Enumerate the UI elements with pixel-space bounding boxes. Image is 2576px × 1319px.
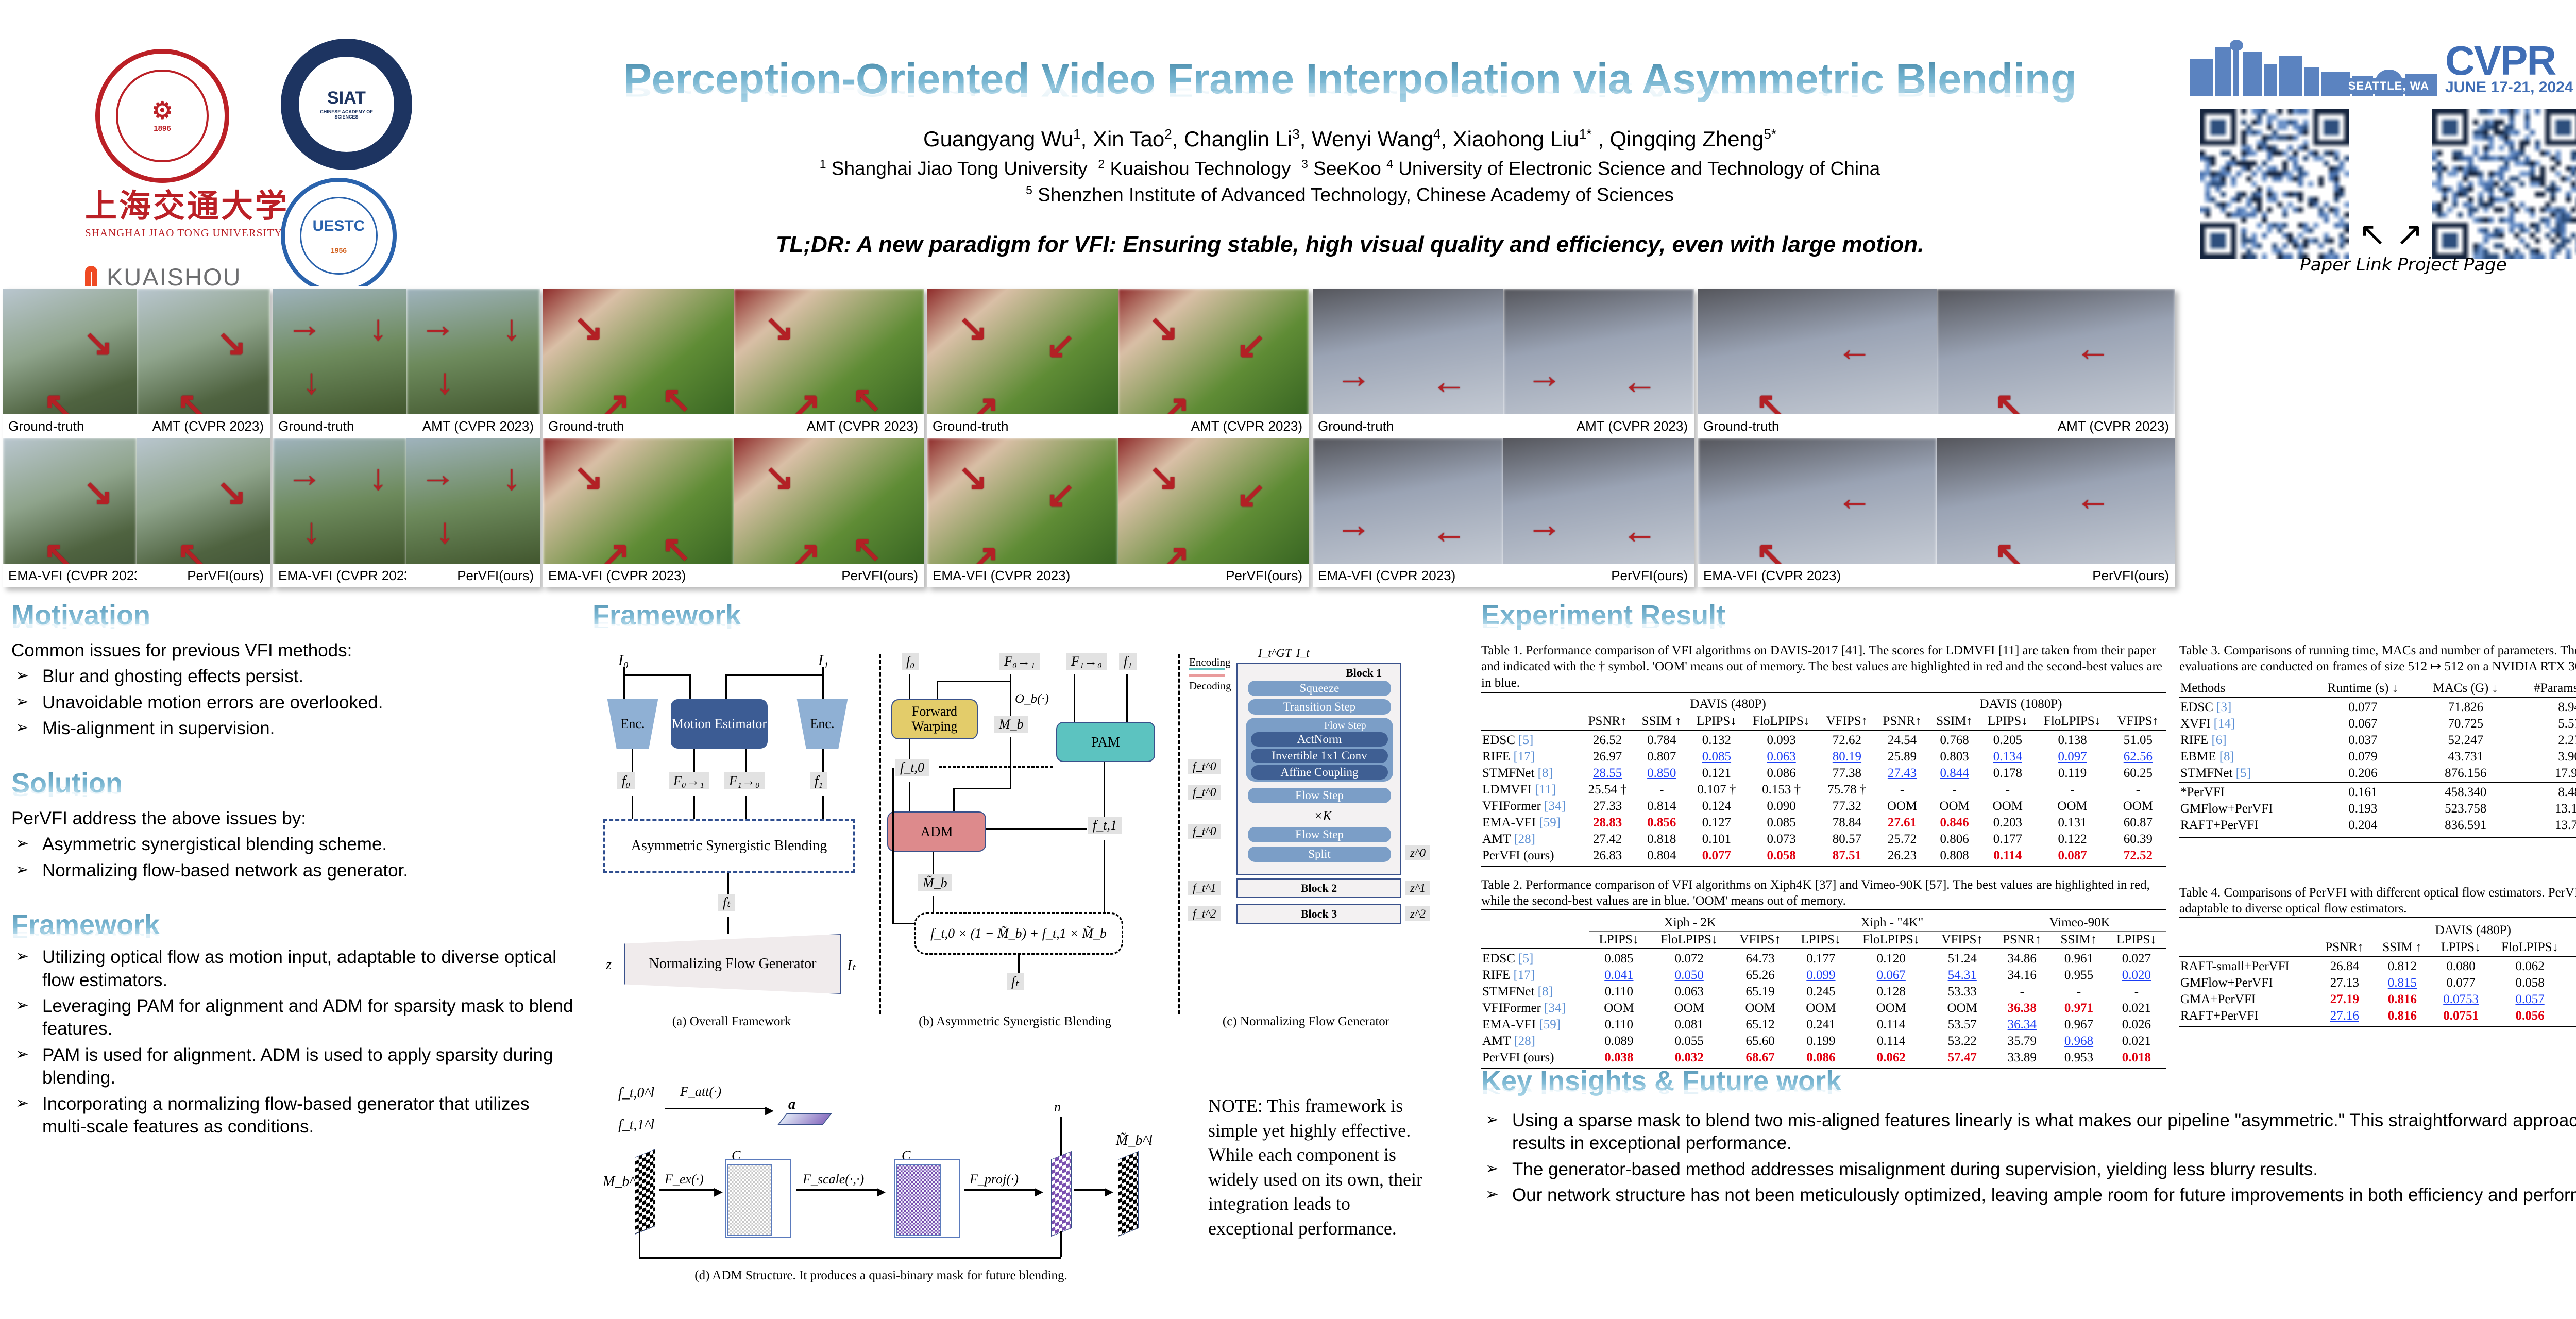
arrow-left-icon: ↖ [2359,217,2386,250]
fig-c-layer-actnorm: ActNorm [1251,732,1388,747]
comparison-cell-ema-vfi: →↓↓EMA-VFI (CVPR 2023) [273,438,406,587]
fig-c-layer-transition: Transition Step [1248,699,1391,715]
fig-a-feature-F10: F₁→₀ [724,773,765,789]
fig-b-input-f0: f₀ [902,654,919,669]
table-row: XVFI [14]0.06770.7255.577 [2179,716,2576,732]
fig-c-repeat-K: ×K [1314,808,1332,824]
comparison-cell-ema-vfi: →←EMA-VFI (CVPR 2023) [1313,438,1503,587]
uestc-logo: UESTC 1956 [281,178,397,294]
solution-heading: Solution [11,767,578,799]
cell-caption: EMA-VFI (CVPR 2023) [927,564,1118,587]
cell-caption: PerVFI(ours) [1118,564,1309,587]
fig-c-caption: (c) Normalizing Flow Generator [1185,1014,1427,1029]
list-item: ➢Blur and ghosting effects persist. [11,665,578,688]
red-annotation-arrow-icon: ↘ [958,459,988,495]
fig-a-mid-feature: fₜ [718,895,735,910]
red-annotation-arrow-icon: ↓ [502,310,520,346]
kuaishou-name: KUAISHOU [107,265,245,290]
red-annotation-arrow-icon: ← [1837,480,1873,516]
qr-code-paper-link[interactable] [2200,109,2349,259]
red-annotation-arrow-icon: ↘ [83,325,113,361]
table-row: PerVFI (ours)0.0380.03268.670.0860.06257… [1481,1050,2166,1066]
framework-note: NOTE: This framework is simple yet highl… [1208,1094,1425,1241]
fig-c-legend-encoding: Encoding [1189,656,1230,669]
comparison-cell-ema-vfi: ←↖EMA-VFI (CVPR 2023) [1698,438,1937,587]
list-item: ➢Utilizing optical flow as motion input,… [11,946,578,992]
cell-caption: PerVFI(ours) [406,564,540,587]
fig-c-latent-z2: z^2 [1405,907,1430,921]
siat-subtitle: CHINESE ACADEMY OF SCIENCES [311,109,382,120]
uestc-year: 1956 [331,246,347,255]
fig-b-caption: (b) Asymmetric Synergistic Blending [886,1014,1144,1029]
fig-b-output-ft: fₜ [1007,974,1024,990]
arrow-bullet-icon: ➢ [1485,1158,1499,1178]
arrow-bullet-icon: ➢ [15,717,29,737]
page-title-reflection: Perception-Oriented Video Frame Interpol… [613,79,2087,101]
red-annotation-arrow-icon: ↙ [1236,477,1266,513]
key-insights-list: ➢Using a sparse mask to blend two mis-al… [1481,1109,2576,1207]
list-item: ➢Unavoidable motion errors are overlooke… [11,691,578,714]
fig-b-ft0: f_t,0 [895,760,929,775]
table4: DAVIS (480P)PSNR↑SSIM ↑LPIPS↓FloLPIPS↓VF… [2179,917,2576,1028]
comparison-cell-amt: →←AMT (CVPR 2023) [1503,289,1694,438]
fig-c-legend-encoding-arrow-icon [1189,668,1225,670]
fig-d-mask-input-grid [635,1149,655,1235]
qr-code-project-page[interactable] [2432,109,2576,259]
fig-a-motion-estimator: Motion Estimator [671,699,768,749]
tables-area: Table 1. Performance comparison of VFI a… [1481,642,2576,1060]
fig-a-encoder-left: Enc. [604,699,662,749]
comparison-cell-pervfi: ↘↖PerVFI(ours) [137,438,270,587]
cell-caption: EMA-VFI (CVPR 2023) [1313,564,1503,587]
comparison-cell-amt: ↘↗↖AMT (CVPR 2023) [734,289,924,438]
cell-caption: EMA-VFI (CVPR 2023) [3,564,137,587]
cell-caption: AMT (CVPR 2023) [137,414,270,438]
table-row: *PerVFI0.161458.3408.481 [2179,784,2576,801]
red-annotation-arrow-icon: ↓ [369,310,387,346]
red-annotation-arrow-icon: ← [1431,363,1467,399]
fig-b-input-F01: F₀→₁ [999,654,1040,669]
cvpr-location-badge: SEATTLE, WA [2344,78,2434,94]
red-annotation-arrow-icon: ↘ [216,474,247,510]
fig-c-latent-z0: z^0 [1405,847,1430,860]
cvpr-logo: SEATTLE, WA CVPR JUNE 17-21, 2024 [2190,32,2576,96]
fig-d-op-scale: F_scale(·,·) [803,1172,864,1187]
solution-lead: PerVFI address the above issues by: [11,807,578,830]
cell-caption: AMT (CVPR 2023) [406,414,540,438]
cvpr-date: JUNE 17-21, 2024 [2445,79,2573,96]
table4-caption: Table 4. Comparisons of PerVFI with diff… [2179,885,2576,917]
table3: MethodsRuntime (s) ↓MACs (G) ↓#Params (M… [2179,675,2576,838]
experiment-result-heading: Experiment Result [1481,599,2576,631]
cell-caption: EMA-VFI (CVPR 2023) [273,564,406,587]
red-annotation-arrow-icon: → [420,456,456,492]
red-annotation-arrow-icon: ↘ [764,459,794,495]
fig-d-arrow-out-icon: ▶ [1105,1185,1113,1198]
red-annotation-arrow-icon: ↘ [83,474,113,510]
tldr-statement: TL;DR: A new paradigm for VFI: Ensuring … [613,232,2087,258]
comparison-cell-pervfi: ↘↙↗PerVFI(ours) [1118,438,1309,587]
table1-wrap: Table 1. Performance comparison of VFI a… [1481,642,2166,868]
table-row: PerVFI (ours)26.830.8040.0770.05887.5126… [1481,848,2166,864]
fig-b-dashed-to-pam [939,766,1053,768]
arrow-bullet-icon: ➢ [15,665,29,685]
fig-d-input-ft1: f_t,1^l [618,1117,654,1134]
fig-a-blending-block: Asymmetric Synergistic Blending [603,819,855,873]
table-row: RAFT-small+PerVFI26.840.8120.0800.06281.… [2179,958,2576,975]
red-annotation-arrow-icon: → [420,307,456,343]
fig-d-feature-cube-2-face [896,1164,941,1236]
fig-b-Mb-tilde: M̃_b [918,875,952,891]
fig-b-blend-formula: f_t,0 × (1 − M̃_b) + f_t,1 × M̃_b [914,912,1123,955]
red-annotation-arrow-icon: → [1526,506,1562,543]
red-annotation-arrow-icon: ↘ [573,459,604,495]
fig-d-output-mask-grid [1118,1151,1139,1237]
table-row: GMA+PerVFI27.190.8160.07530.05783.34 [2179,991,2576,1008]
fig-a-generator-output-It: Iₜ [847,957,856,974]
arrow-right-icon: ↗ [2396,217,2424,250]
poster-header: ⚙ 1896 SIAT CHINESE ACADEMY OF SCIENCES … [0,0,2576,286]
fig-d-output-label: M̃_b^l [1116,1132,1153,1149]
uestc-acronym: UESTC [313,217,365,235]
fig-c-layer-flowstep-3: Flow Step [1248,827,1391,842]
siat-logo: SIAT CHINESE ACADEMY OF SCIENCES [281,39,412,170]
fig-c-latent-z1: z^1 [1405,882,1430,895]
red-annotation-arrow-icon: ↖ [852,381,882,417]
fig-a-normalizing-flow-generator: Normalizing Flow Generator [624,934,841,994]
comparison-cell-ema-vfi: ↘↗↖EMA-VFI (CVPR 2023) [543,438,734,587]
fig-a-caption: (a) Overall Framework [603,1014,860,1029]
table-row: EBME [8]0.07943.7313.908 [2179,749,2576,765]
seattle-skyline-icon: SEATTLE, WA [2190,36,2437,96]
fig-a-feature-F01: F₀→₁ [669,773,709,789]
table1: DAVIS (480P)DAVIS (1080P)PSNR↑SSIM ↑LPIP… [1481,691,2166,868]
red-annotation-arrow-icon: → [286,307,323,343]
table4-wrap: Table 4. Comparisons of PerVFI with diff… [2179,885,2576,1028]
motivation-list: ➢Blur and ghosting effects persist.➢Unav… [11,665,578,740]
red-annotation-arrow-icon: ← [1431,513,1467,549]
comparison-cell-ground-truth: ←↖Ground-truth [1698,289,1937,438]
fig-c-layer-inv-conv: Invertible 1x1 Conv [1251,749,1388,763]
red-annotation-arrow-icon: ↘ [216,325,247,361]
fig-c-cond-ft0-c: f_t^0 [1188,825,1221,838]
table-row: STMFNet [8]0.1100.06365.190.2450.12853.3… [1481,984,2166,1000]
fig-d-feature-cube-1-face [727,1164,772,1236]
fig-c-cond-ft1: f_t^1 [1188,882,1221,895]
table-row: AMT [28]0.0890.05565.600.1990.11453.2235… [1481,1033,2166,1050]
list-item: ➢Using a sparse mask to blend two mis-al… [1481,1109,2576,1155]
fig-d-arrow-att-icon: ▶ [765,1104,774,1117]
list-item: ➢PAM is used for alignment. ADM is used … [11,1044,578,1090]
table-row: RAFT+PerVFI0.204836.59113.739 [2179,817,2576,834]
fig-b-adm-block: ADM [887,811,986,852]
fig-d-input-ft0: f_t,0^l [618,1085,654,1102]
cell-caption: EMA-VFI (CVPR 2023) [543,564,734,587]
comparison-cell-ema-vfi: ↘↖EMA-VFI (CVPR 2023) [3,438,137,587]
right-column: Experiment Result Table 1. Performance c… [1481,599,2576,1207]
fig-a-input-I1: I₁ [808,652,839,669]
fig-d-arrow-ex-icon: ▶ [714,1185,723,1198]
key-insights-heading: Key Insights & Future work [1481,1065,2576,1097]
diagram-separator-1 [879,654,881,1014]
red-annotation-arrow-icon: ↓ [369,459,387,495]
red-annotation-arrow-icon: ↘ [1148,459,1179,495]
fig-c-legend-decoding: Decoding [1189,680,1231,692]
fig-c-cond-ft2: f_t^2 [1188,907,1221,921]
motivation-heading: Motivation [11,599,578,631]
diagram-separator-2 [1178,654,1180,1014]
left-column: Motivation Common issues for previous VF… [11,599,578,1139]
comparison-cell-pervfi: ←↖PerVFI(ours) [1937,438,2175,587]
red-annotation-arrow-icon: ↘ [573,310,604,346]
sjtu-chinese-name: 上海交通大学 [85,191,240,223]
fig-d-op-att: F_att(·) [680,1084,721,1100]
fig-a-feature-f1: f₁ [810,773,827,789]
red-annotation-arrow-icon: ↖ [661,381,691,417]
list-item: ➢Incorporating a normalizing flow-based … [11,1093,578,1139]
arrow-bullet-icon: ➢ [15,859,29,880]
table-row: EMA-VFI [59]0.1100.08165.120.2410.11453.… [1481,1017,2166,1033]
framework-diagrams: I₀ I₁ Enc. Enc. Motion Estimator f₀ F₀→₁… [592,638,1468,1061]
fig-c-cond-ft0-b: f_t^0 [1188,786,1221,799]
fig-c-layer-squeeze: Squeeze [1248,681,1391,696]
red-annotation-arrow-icon: → [286,456,323,492]
comparison-panel: ↘↙↗Ground-truth↘↙↗AMT (CVPR 2023)↘↙↗EMA-… [927,289,1309,587]
table-row: LDMVFI [11]25.54 †-0.107 †0.153 †75.78 †… [1481,782,2166,798]
fig-d-input-Mb: M_b^l [603,1174,639,1190]
fig-d-op-proj: F_proj(·) [970,1172,1019,1187]
framework-heading-left: Framework [11,909,578,941]
arrow-bullet-icon: ➢ [15,946,29,966]
cell-caption: AMT (CVPR 2023) [1937,414,2175,438]
red-annotation-arrow-icon: ↓ [502,459,520,495]
comparison-cell-ground-truth: ↘↙↗Ground-truth [927,289,1118,438]
cell-caption: Ground-truth [1313,414,1503,438]
fig-d-tensor-a: a [788,1096,795,1113]
table-row: EDSC [5]0.0850.07264.730.1770.12051.2434… [1481,951,2166,967]
cell-caption: Ground-truth [543,414,734,438]
fig-c-layer-split: Split [1248,847,1391,862]
table3-wrap: Table 3. Comparisons of running time, MA… [2179,642,2576,838]
table-row: VFIFormer [34]27.330.8140.1240.09077.32O… [1481,798,2166,815]
cell-caption: PerVFI(ours) [137,564,270,587]
qualitative-comparison-strip: ↘↖Ground-truth↘↖AMT (CVPR 2023)↘↖EMA-VFI… [0,286,2576,590]
cell-caption: Ground-truth [3,414,137,438]
list-item: ➢Asymmetric synergistical blending schem… [11,833,578,856]
table-row: EDSC [3]0.07771.8268.945 [2179,699,2576,716]
cell-caption: AMT (CVPR 2023) [1503,414,1694,438]
fig-c-block3: Block 3 [1236,904,1401,924]
comparison-cell-pervfi: ↘↗↖PerVFI(ours) [734,438,924,587]
list-item: ➢Our network structure has not been meti… [1481,1184,2576,1207]
table-row: STMFNet [5]0.206876.15617.960 [2179,765,2576,782]
fig-c-flow-step-label: Flow Step [1324,720,1366,732]
fig-d-op-ex: F_ex(·) [665,1172,704,1187]
table-row: RIFE [17]0.0410.05065.260.0990.06754.313… [1481,967,2166,984]
red-annotation-arrow-icon: ↓ [302,363,320,399]
cell-caption: AMT (CVPR 2023) [734,414,924,438]
table-row: RIFE [17]26.970.8070.0850.06380.1925.890… [1481,749,2166,765]
table2-wrap: Table 2. Performance comparison of VFI a… [1481,877,2166,1070]
table2: Xiph - 2KXiph - "4K"Vimeo-90KLPIPS↓FloLP… [1481,909,2166,1070]
fig-c-block2: Block 2 [1236,878,1401,898]
red-annotation-arrow-icon: ↖ [852,531,882,567]
solution-list: ➢Asymmetric synergistical blending schem… [11,833,578,882]
comparison-panel: ↘↖Ground-truth↘↖AMT (CVPR 2023)↘↖EMA-VFI… [3,289,270,587]
fig-d-arrow-scale-icon: ▶ [877,1185,886,1198]
red-annotation-arrow-icon: ↙ [1045,327,1076,363]
fig-c-layer-affine: Affine Coupling [1251,765,1388,780]
fig-a-encoder-right: Enc. [793,699,851,749]
fig-b-ft1: f_t,1 [1088,818,1122,833]
fig-d-input-noise: n [1054,1100,1061,1115]
fig-d-caption: (d) ADM Structure. It produces a quasi-b… [659,1269,1103,1283]
red-annotation-arrow-icon: → [1526,357,1562,393]
cell-caption: Ground-truth [1698,414,1937,438]
fig-a-input-I0: I₀ [608,652,639,669]
fig-b-Mb: M_b [994,717,1028,732]
comparison-cell-amt: ↘↖AMT (CVPR 2023) [137,289,270,438]
red-annotation-arrow-icon: ↙ [1045,477,1076,513]
fig-b-ob-label: O_b(·) [1015,692,1049,706]
table-row: RAFT+PerVFI27.160.8160.07510.05683.30 [2179,1008,2576,1024]
red-annotation-arrow-icon: ↘ [764,310,794,346]
fig-d-noisy-mask-grid [1051,1151,1072,1237]
comparison-panel: →↓↓Ground-truth→↓↓AMT (CVPR 2023)→↓↓EMA-… [273,289,540,587]
list-item: ➢The generator-based method addresses mi… [1481,1158,2576,1181]
arrow-bullet-icon: ➢ [1485,1109,1499,1129]
fig-c-layer-flowstep-2: Flow Step [1248,788,1391,803]
comparison-cell-ema-vfi: ↘↙↗EMA-VFI (CVPR 2023) [927,438,1118,587]
comparison-cell-ground-truth: →↓↓Ground-truth [273,289,406,438]
fig-c-block1-label: Block 1 [1346,666,1382,680]
red-annotation-arrow-icon: ↓ [436,363,454,399]
red-annotation-arrow-icon: ← [1621,363,1657,399]
table1-caption: Table 1. Performance comparison of VFI a… [1481,642,2166,691]
qr-captions: Paper Link Project Page [2190,255,2576,275]
fig-b-input-F10: F₁→₀ [1066,654,1107,669]
sjtu-wordmark: 上海交通大学 SHANGHAI JIAO TONG UNIVERSITY [85,191,240,247]
red-annotation-arrow-icon: ← [1621,513,1657,549]
affiliation-line-1: 1 Shanghai Jiao Tong University 2 Kuaish… [613,157,2087,179]
arrow-bullet-icon: ➢ [15,1044,29,1064]
fig-d-area: f_t,0^l f_t,1^l F_att(·) ▶ a M_b^l F_ex(… [587,1081,1195,1297]
arrow-bullet-icon: ➢ [1485,1184,1499,1204]
framework-heading-mid: Framework [592,599,1468,631]
table-row: EMA-VFI [59]28.830.8560.1270.08578.8427.… [1481,815,2166,831]
arrow-bullet-icon: ➢ [15,833,29,853]
comparison-panel: ←↖Ground-truth←↖AMT (CVPR 2023)←↖EMA-VFI… [1698,289,2175,587]
fig-c-input-gt: I_t^GT [1258,647,1292,660]
red-annotation-arrow-icon: ↓ [302,513,320,549]
cell-caption: EMA-VFI (CVPR 2023) [1698,564,1937,587]
sjtu-seal-year: 1896 [154,124,171,133]
red-annotation-arrow-icon: → [1335,506,1371,543]
red-annotation-arrow-icon: ↙ [1236,327,1266,363]
comparison-cell-ground-truth: →←Ground-truth [1313,289,1503,438]
middle-column: Framework I₀ I₁ Enc. Enc. Motion Estimat… [592,599,1468,1061]
red-annotation-arrow-icon: ↘ [1148,310,1179,346]
comparison-cell-ground-truth: ↘↖Ground-truth [3,289,137,438]
comparison-cell-ground-truth: ↘↗↖Ground-truth [543,289,734,438]
author-list: Guangyang Wu1, Xin Tao2, Changlin Li3, W… [613,126,2087,151]
list-item: ➢Leveraging PAM for alignment and ADM fo… [11,995,578,1041]
cell-caption: Ground-truth [927,414,1118,438]
table3-caption: Table 3. Comparisons of running time, MA… [2179,642,2576,675]
red-annotation-arrow-icon: → [1335,357,1371,393]
table-row: GMFlow+PerVFI0.193523.75813.161 [2179,801,2576,817]
red-annotation-arrow-icon: ← [1837,330,1873,366]
cell-caption: AMT (CVPR 2023) [1118,414,1309,438]
siat-acronym: SIAT [327,89,366,107]
fig-c-legend-decoding-arrow-icon [1189,674,1225,677]
red-annotation-arrow-icon: ↓ [436,513,454,549]
fig-c-input-it: I_t [1296,647,1310,660]
cvpr-wordmark: CVPR [2445,43,2573,79]
motivation-lead: Common issues for previous VFI methods: [11,639,578,662]
cvpr-branding-block: SEATTLE, WA CVPR JUNE 17-21, 2024 ↖ ↗ Pa… [2190,32,2576,279]
cell-caption: PerVFI(ours) [1503,564,1694,587]
red-annotation-arrow-icon: ← [2075,480,2111,516]
arrow-bullet-icon: ➢ [15,691,29,712]
red-annotation-arrow-icon: ↘ [958,310,988,346]
fig-a-generator-input-z: z [606,957,612,973]
comparison-cell-amt: →↓↓AMT (CVPR 2023) [406,289,540,438]
cell-caption: PerVFI(ours) [734,564,924,587]
fig-d-arrow-proj-icon: ▶ [1035,1185,1043,1198]
fig-b-forward-warping: Forward Warping [891,699,978,739]
sjtu-seal-logo: ⚙ 1896 [95,49,229,183]
comparison-cell-amt: ←↖AMT (CVPR 2023) [1937,289,2175,438]
framework-list: ➢Utilizing optical flow as motion input,… [11,946,578,1139]
comparison-panel: →←Ground-truth→←AMT (CVPR 2023)→←EMA-VFI… [1313,289,1694,587]
sjtu-english-name: SHANGHAI JIAO TONG UNIVERSITY [85,227,240,240]
table-row: AMT [28]27.420.8180.1010.07380.5725.720.… [1481,831,2166,848]
affiliation-line-2: 5 Shenzhen Institute of Advanced Technol… [613,183,2087,206]
arrow-bullet-icon: ➢ [15,995,29,1015]
comparison-cell-pervfi: →←PerVFI(ours) [1503,438,1694,587]
fig-d-attention-vector [777,1113,833,1125]
table-row: STMFNet [8]28.550.8500.1210.08677.3827.4… [1481,765,2166,782]
table-row: VFIFormer [34]OOMOOMOOMOOMOOMOOM36.380.9… [1481,1000,2166,1017]
arrow-bullet-icon: ➢ [15,1093,29,1113]
fig-b-pam-block: PAM [1056,722,1155,762]
table-row: RIFE [6]0.03752.2472.278 [2179,732,2576,749]
table-row: GMFlow+PerVFI27.130.8150.0770.05882.98 [2179,975,2576,991]
fig-c-cond-ft0-a: f_t^0 [1188,760,1221,773]
fig-a-feature-f0: f₀ [617,773,635,789]
comparison-panel: ↘↗↖Ground-truth↘↗↖AMT (CVPR 2023)↘↗↖EMA-… [543,289,924,587]
comparison-cell-amt: ↘↙↗AMT (CVPR 2023) [1118,289,1309,438]
table-row: EDSC [5]26.520.7840.1320.09372.6224.540.… [1481,732,2166,749]
cell-caption: PerVFI(ours) [1937,564,2175,587]
list-item: ➢Normalizing flow-based network as gener… [11,859,578,882]
comparison-cell-pervfi: →↓↓PerVFI(ours) [406,438,540,587]
list-item: ➢Mis-alignment in supervision. [11,717,578,740]
red-annotation-arrow-icon: ↖ [661,531,691,567]
red-annotation-arrow-icon: ← [2075,330,2111,366]
cell-caption: Ground-truth [273,414,406,438]
fig-b-input-f1: f₁ [1119,654,1137,669]
table2-caption: Table 2. Performance comparison of VFI a… [1481,877,2166,909]
